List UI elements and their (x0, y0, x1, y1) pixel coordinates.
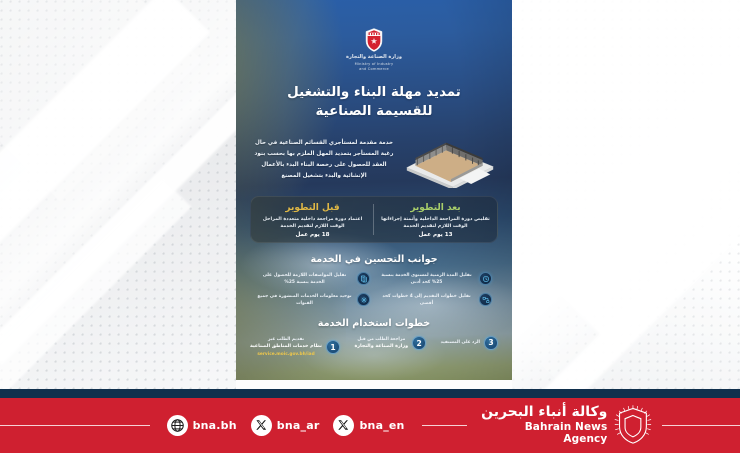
improvement-text: تقليل خطوات التقديم إلى 4 خطوات كحد أقصى (378, 293, 475, 307)
ministry-name-arabic: وزارة الصناعة والتجارة (236, 55, 512, 61)
documents-icon (357, 272, 370, 285)
poster-title: تمديد مهلة البناء والتشغيل للقسيمة الصنا… (236, 83, 512, 121)
poster-description: خدمة مقدمة لمستأجري القسائم الصناعية في … (250, 136, 398, 182)
bna-name-english: Bahrain News Agency (477, 421, 607, 446)
footer-rule-right (662, 425, 740, 427)
before-development-line1: اعتماد دورة مراجعة داخلية متعددة المراحل (256, 216, 369, 223)
step-2: 2 مراجعة الطلب من قبل وزارة الصناعة والت… (354, 336, 426, 351)
x-twitter-icon (333, 415, 354, 436)
clock-speed-icon (479, 272, 492, 285)
step-1-number: 1 (326, 340, 340, 354)
step-3-text: الرد على المستفيد (441, 339, 480, 346)
steps-flow-icon (479, 293, 492, 306)
navy-divider-strip (0, 389, 740, 398)
bahrain-crest-icon (361, 27, 387, 53)
ministry-name-english-line1: Ministry of Industry (236, 62, 512, 66)
step-3-number: 3 (484, 336, 498, 350)
step-1-text: تقديم الطلب عبر نظام خدمات المناطق الصنا… (250, 336, 322, 358)
industrial-plot-3d-icon (402, 130, 498, 188)
background-panel-left (0, 0, 236, 391)
before-development-title: قبل التطوير (256, 203, 369, 213)
improvement-text: تقليل المواصفات اللازمة للحصول على الخدم… (256, 272, 353, 286)
before-development-column: قبل التطوير اعتماد دورة مراجعة داخلية مت… (251, 197, 374, 242)
after-development-title: بعد التطوير (379, 203, 492, 213)
bna-name-arabic: وكالة أنباء البحرين (477, 405, 607, 420)
improvement-item: تقليل المدة الزمنية لمستوى الخدمة بنسبة … (378, 272, 492, 286)
network-channels-icon (357, 293, 370, 306)
improvement-text: تقليل المدة الزمنية لمستوى الخدمة بنسبة … (378, 272, 475, 286)
footer-link-x-arabic-label: bna_ar (277, 419, 320, 432)
step-1-line1: تقديم الطلب عبر (268, 337, 304, 342)
step-1-url[interactable]: service.moic.gov.bh/iad (250, 351, 322, 358)
improvements-heading: جوانب التحسين في الخدمة (236, 254, 512, 265)
after-development-line1: تقليص دورة المراجعة الداخلية وأتمتة إجرا… (379, 216, 492, 223)
improvement-item: تقليل المواصفات اللازمة للحصول على الخدم… (256, 272, 370, 286)
improvement-item: تقليل خطوات التقديم إلى 4 خطوات كحد أقصى (378, 293, 492, 307)
poster-image: وزارة الصناعة والتجارة Ministry of Indus… (236, 0, 512, 380)
step-2-text: مراجعة الطلب من قبل وزارة الصناعة والتجا… (354, 336, 408, 351)
bna-logo-text: وكالة أنباء البحرين Bahrain News Agency (477, 405, 607, 446)
step-2-line2: وزارة الصناعة والتجارة (354, 343, 408, 351)
footer-link-website-label: bna.bh (193, 419, 237, 432)
step-1-system-name: نظام خدمات المناطق الصناعية (250, 343, 322, 351)
step-1: 1 تقديم الطلب عبر نظام خدمات المناطق الص… (250, 336, 340, 358)
screenshot-stage: وزارة الصناعة والتجارة Ministry of Indus… (0, 0, 740, 453)
steps-row: 3 الرد على المستفيد 2 مراجعة الطلب من قب… (250, 336, 498, 358)
improvement-item: توحيد معلومات الخدمات المنشورة في جميع ا… (256, 293, 370, 307)
bna-logo: وكالة أنباء البحرين Bahrain News Agency (477, 405, 652, 446)
before-after-panel: بعد التطوير تقليص دورة المراجعة الداخلية… (250, 196, 498, 243)
globe-icon (167, 415, 188, 436)
footer-link-x-english-label: bna_en (359, 419, 404, 432)
bna-footer-bar: bna.bh bna_ar bna_en وكالة أنباء البحرين (0, 398, 740, 453)
ministry-name-english-line2: and Commerce (236, 67, 512, 71)
footer-rule-middle (422, 425, 468, 427)
bna-shield-icon (614, 405, 652, 445)
footer-link-x-english[interactable]: bna_en (333, 415, 404, 436)
improvements-grid: تقليل المدة الزمنية لمستوى الخدمة بنسبة … (256, 272, 492, 307)
x-twitter-icon (251, 415, 272, 436)
improvement-text: توحيد معلومات الخدمات المنشورة في جميع ا… (256, 293, 353, 307)
after-development-line2: الوقت اللازم لتقديم الخدمة (379, 223, 492, 230)
after-development-column: بعد التطوير تقليص دورة المراجعة الداخلية… (374, 197, 497, 242)
ministry-logo: وزارة الصناعة والتجارة Ministry of Indus… (236, 0, 512, 72)
step-3: 3 الرد على المستفيد (441, 336, 498, 350)
step-2-line1: مراجعة الطلب من قبل (357, 337, 405, 342)
before-development-days: 18 يوم عمل (256, 232, 369, 238)
poster-intro-row: خدمة مقدمة لمستأجري القسائم الصناعية في … (236, 130, 512, 188)
before-development-line2: الوقت اللازم لتقديم الخدمة (256, 223, 369, 230)
step-2-number: 2 (412, 336, 426, 350)
background-panel-right (512, 0, 740, 391)
after-development-days: 13 يوم عمل (379, 232, 492, 238)
steps-heading: خطوات استخدام الخدمة (236, 318, 512, 329)
footer-rule-left (0, 425, 150, 427)
footer-link-x-arabic[interactable]: bna_ar (251, 415, 320, 436)
footer-link-website[interactable]: bna.bh (167, 415, 237, 436)
